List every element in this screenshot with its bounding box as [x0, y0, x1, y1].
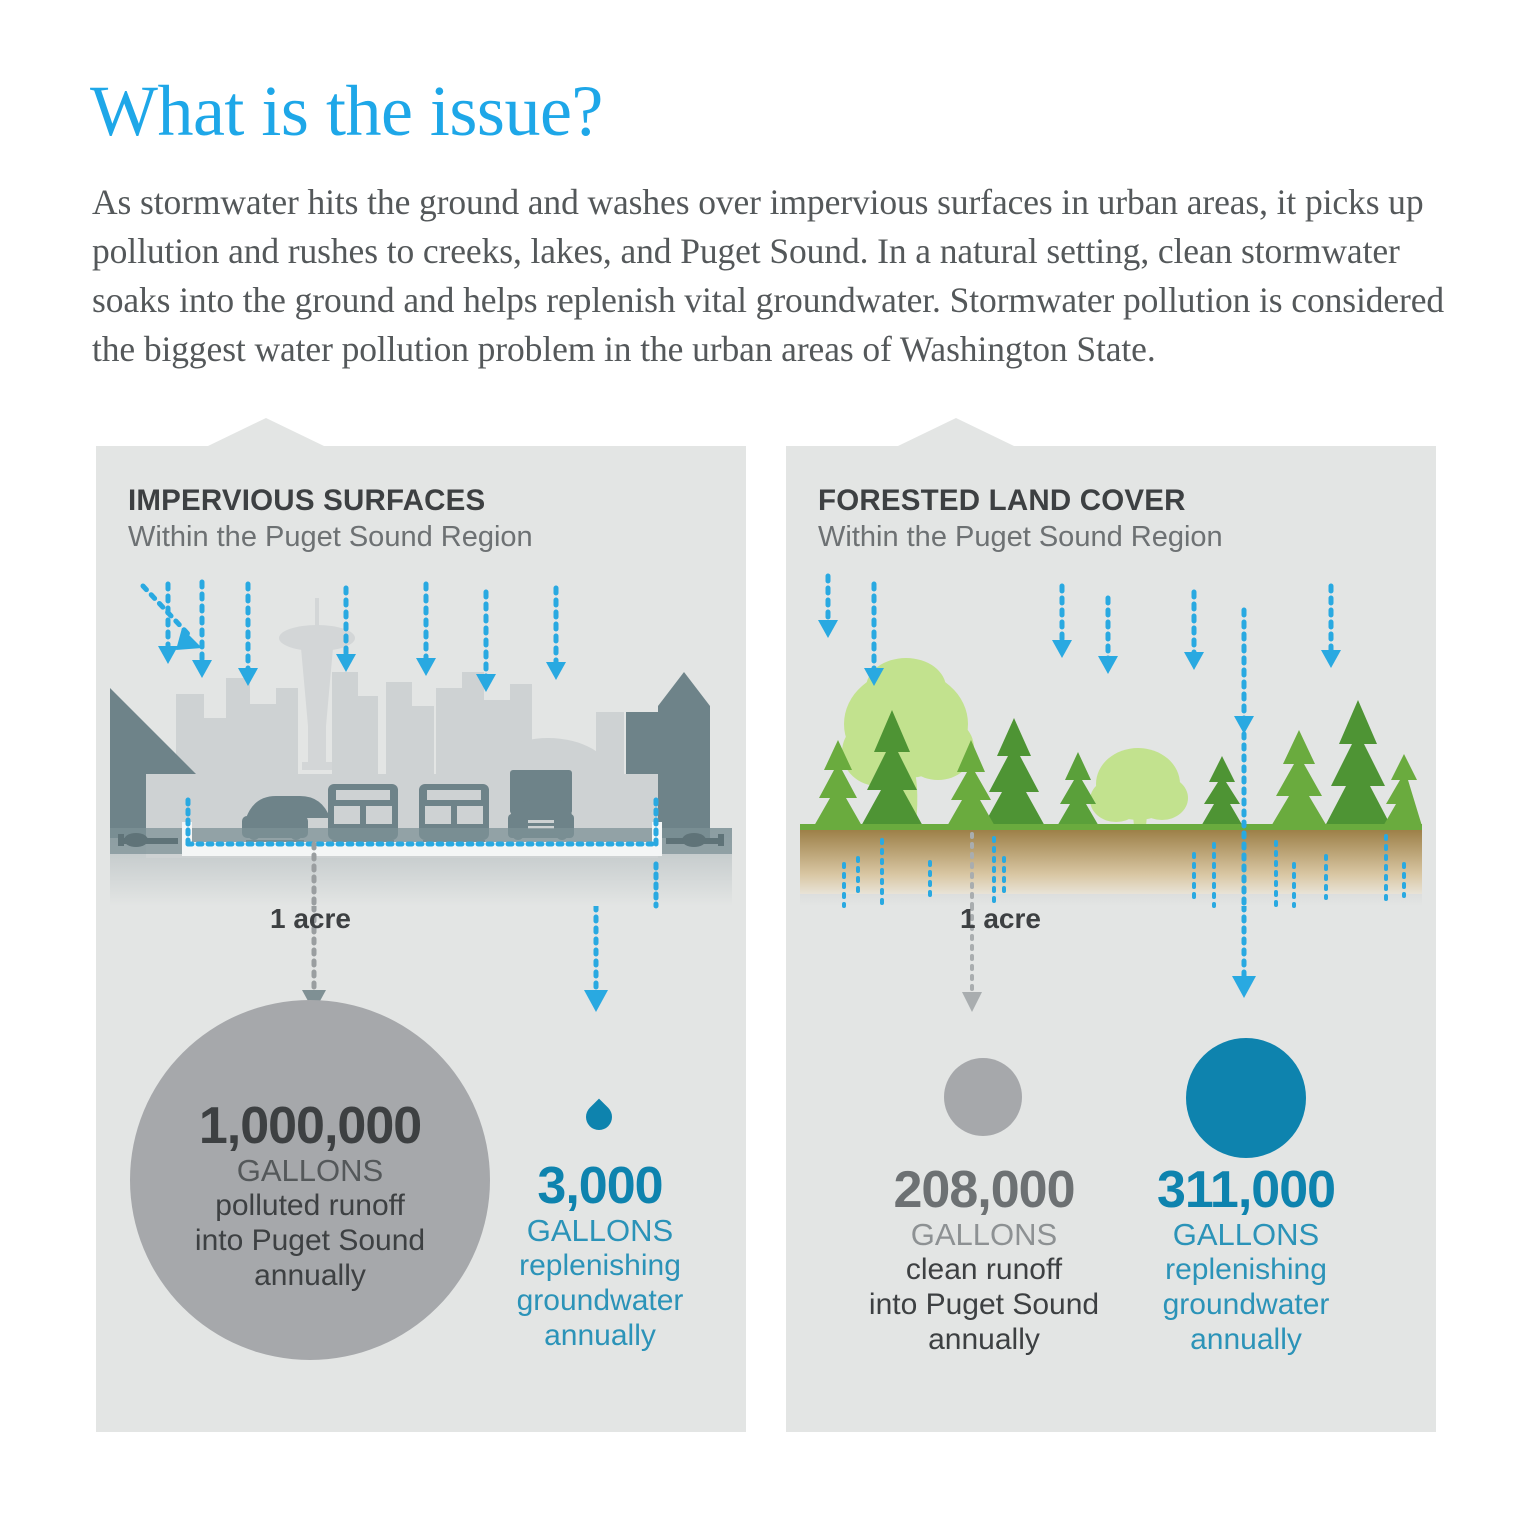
stat-number: 1,000,000: [130, 1098, 490, 1154]
forest-illustration: [786, 576, 1436, 906]
stat-unit: GALLONS: [1130, 1218, 1362, 1252]
stat-description: polluted runoff into Puget Sound annuall…: [130, 1188, 490, 1293]
deciduous-tree-small-icon: [1090, 748, 1188, 826]
stat-polluted-runoff: 1,000,000 GALLONS polluted runoff into P…: [130, 1098, 490, 1293]
conifer-icon-7: [1270, 730, 1328, 828]
grass-line: [800, 824, 1422, 830]
stat-unit: GALLONS: [130, 1154, 490, 1188]
acre-label-right: 1 acre: [960, 903, 1041, 935]
stat-forest-groundwater-recharge: 311,000 GALLONS replenishing groundwater…: [1130, 1162, 1362, 1357]
stat-groundwater-recharge: 3,000 GALLONS replenishing groundwater a…: [480, 1158, 720, 1353]
stat-unit: GALLONS: [480, 1214, 720, 1248]
intro-paragraph: As stormwater hits the ground and washes…: [92, 178, 1452, 374]
stat-description: replenishing groundwater annually: [1130, 1252, 1362, 1357]
right-connectors: [786, 906, 1436, 1036]
stat-number: 208,000: [855, 1162, 1113, 1218]
stat-circle-clean-runoff: [944, 1058, 1022, 1136]
conifer-icon-3: [982, 718, 1046, 828]
panel-heading-group: IMPERVIOUS SURFACES Within the Puget Sou…: [128, 484, 533, 554]
left-connectors: [96, 906, 746, 1026]
rain-arrowheads-blue: [158, 628, 566, 692]
stat-description: replenishing groundwater annually: [480, 1248, 720, 1353]
stat-number: 3,000: [480, 1158, 720, 1214]
acre-label-left: 1 acre: [270, 903, 351, 935]
conifer-icon-6: [1200, 756, 1244, 828]
stat-number: 311,000: [1130, 1162, 1362, 1218]
panel-subheading: Within the Puget Sound Region: [128, 521, 533, 554]
panel-notch-icon: [208, 418, 324, 446]
panel-heading: FORESTED LAND COVER: [818, 484, 1223, 518]
soil-layer: [800, 830, 1422, 894]
panel-notch-icon: [898, 418, 1014, 446]
panel-subheading: Within the Puget Sound Region: [818, 521, 1223, 554]
stat-clean-runoff: 208,000 GALLONS clean runoff into Puget …: [855, 1162, 1113, 1357]
infographic-root: What is the issue? As stormwater hits th…: [0, 0, 1536, 1536]
city-street-illustration: [96, 576, 746, 906]
panel-heading-group: FORESTED LAND COVER Within the Puget Sou…: [818, 484, 1223, 554]
stat-description: clean runoff into Puget Sound annually: [855, 1252, 1113, 1357]
stat-unit: GALLONS: [855, 1218, 1113, 1252]
page-title: What is the issue?: [90, 72, 603, 150]
stat-circle-forest-recharge: [1186, 1038, 1306, 1158]
conifer-icon-8: [1324, 700, 1392, 828]
conifer-icon-9: [1382, 754, 1422, 828]
panel-heading: IMPERVIOUS SURFACES: [128, 484, 533, 518]
